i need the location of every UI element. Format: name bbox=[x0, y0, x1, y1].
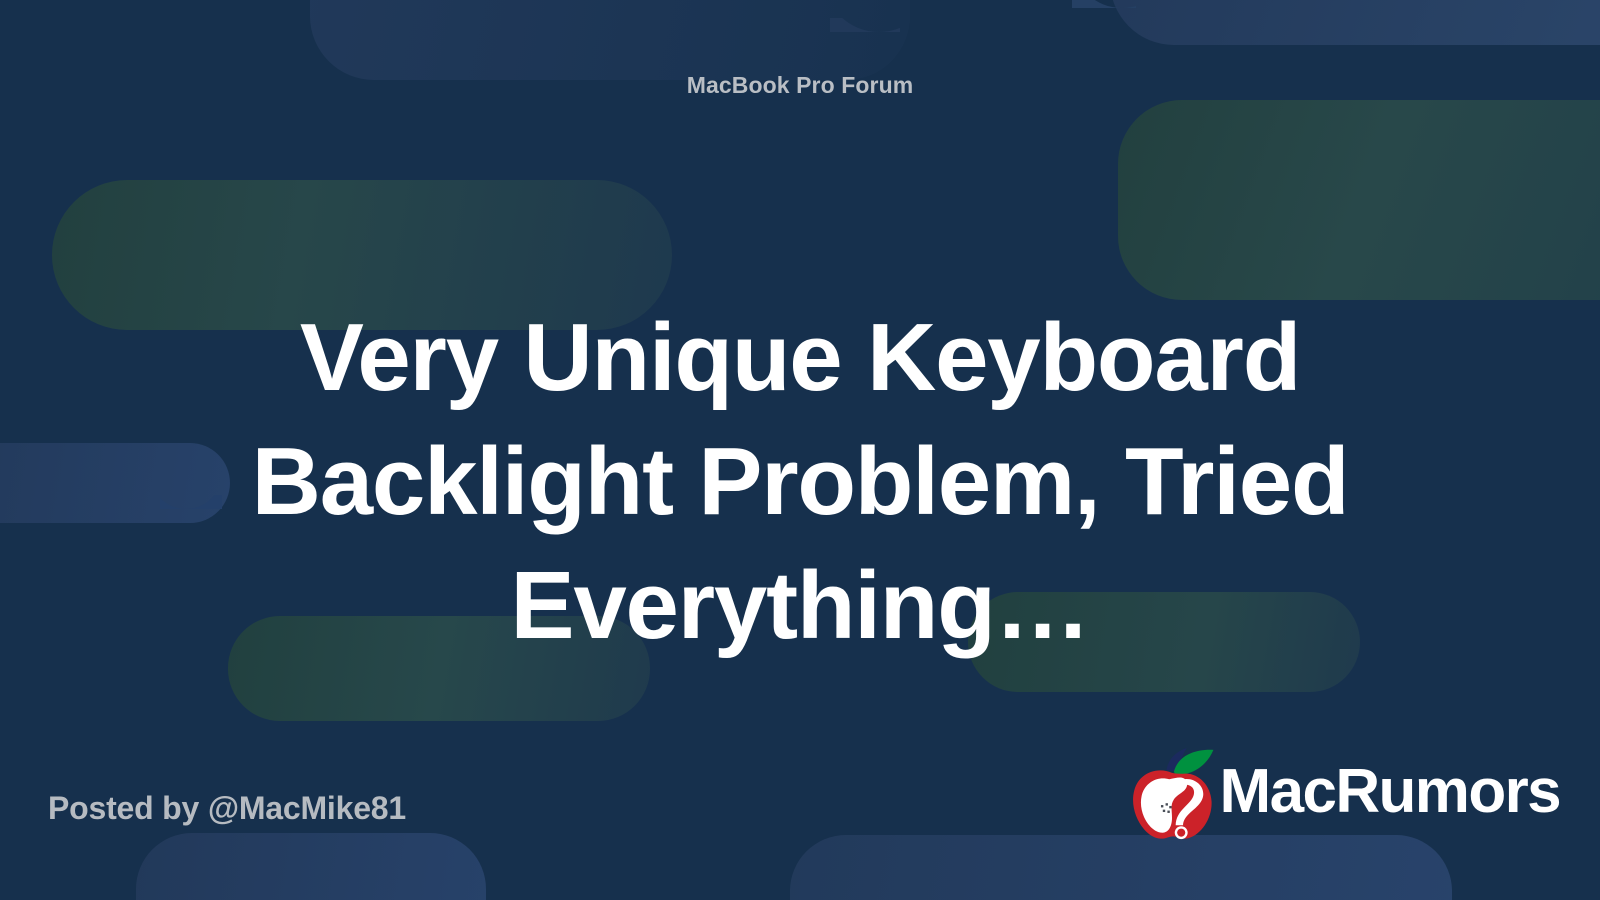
macrumors-brand-lockup: MacRumors bbox=[1126, 746, 1560, 842]
posted-by-label: Posted by @MacMike81 bbox=[48, 790, 406, 827]
thread-title: Very Unique Keyboard Backlight Problem, … bbox=[160, 296, 1440, 667]
bubble-mid-right-teal-icon bbox=[1118, 100, 1600, 300]
bubble-body bbox=[1118, 100, 1600, 300]
forum-name-eyebrow: MacBook Pro Forum bbox=[0, 72, 1600, 99]
bubble-bottom-left-icon bbox=[136, 833, 486, 900]
bubble-body bbox=[310, 0, 910, 80]
bubble-tail bbox=[830, 18, 900, 80]
macrumors-wordmark: MacRumors bbox=[1220, 761, 1560, 823]
social-share-card: MacBook Pro Forum Very Unique Keyboard B… bbox=[0, 0, 1600, 900]
bubble-tail bbox=[1066, 0, 1136, 44]
bubble-top-right-icon bbox=[1110, 0, 1600, 45]
bubble-body bbox=[790, 835, 1452, 900]
bubble-bottom-right-icon bbox=[790, 835, 1452, 900]
bubble-body bbox=[1110, 0, 1600, 45]
bubble-body bbox=[136, 833, 486, 900]
bubble-top-left-icon bbox=[310, 0, 910, 80]
macrumors-apple-question-logo-icon bbox=[1126, 746, 1218, 842]
